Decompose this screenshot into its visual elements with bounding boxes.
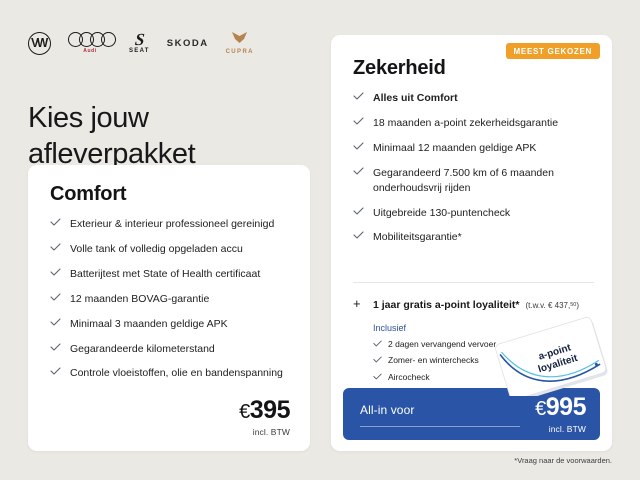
comfort-price-note: incl. BTW: [239, 427, 290, 437]
audi-ring-4: [101, 32, 116, 47]
check-icon: [50, 218, 63, 226]
list-item-label: Volle tank of volledig opgeladen accu: [70, 242, 294, 257]
status-badge: MEEST GEKOZEN: [506, 43, 600, 59]
list-item: Zomer- en winterchecks: [373, 355, 533, 366]
list-item-label: Zomer- en winterchecks: [388, 355, 479, 366]
check-icon: [50, 268, 63, 276]
list-item-label: Exterieur & interieur professioneel gere…: [70, 217, 294, 232]
audi-rings-icon: [68, 32, 112, 46]
check-icon: [373, 355, 383, 366]
volkswagen-vw-glyph: VW: [31, 37, 46, 50]
list-item-label: Gegarandeerd 7.500 km of 6 maanden onder…: [373, 166, 596, 196]
list-item: Alles uit Comfort: [353, 91, 596, 106]
zekerheid-price: €995: [535, 395, 586, 420]
allin-rule: [360, 426, 520, 427]
list-item: 18 maanden a-point zekerheidsgarantie: [353, 116, 596, 131]
zekerheid-title: Zekerheid: [353, 57, 446, 80]
list-item-label: Aircocheck: [388, 372, 430, 383]
seat-s-icon: S: [134, 32, 145, 47]
list-item: 12 maanden BOVAG-garantie: [50, 292, 294, 307]
allin-label: All-in voor: [360, 403, 414, 417]
seat-wordmark: SEAT: [129, 48, 150, 54]
check-icon: [50, 243, 63, 251]
allin-price-bar: All-in voor €995 incl. BTW: [343, 388, 600, 440]
list-item: Uitgebreide 130-puntencheck: [353, 206, 596, 221]
inclusief-heading: Inclusief: [373, 323, 533, 333]
bonus-note-prefix: (t.w.v. € 437,: [525, 301, 570, 310]
list-item-label: Controle vloeistoffen, olie en bandenspa…: [70, 366, 294, 381]
list-item-label: Minimaal 3 maanden geldige APK: [70, 317, 294, 332]
list-item: Volle tank of volledig opgeladen accu: [50, 242, 294, 257]
package-card-comfort[interactable]: Comfort Exterieur & interieur profession…: [28, 165, 310, 451]
footnote-text: *Vraag naar de voorwaarden.: [514, 456, 612, 465]
package-card-zekerheid[interactable]: MEEST GEKOZEN Zekerheid Alles uit Comfor…: [331, 35, 612, 451]
list-item: Batterijtest met State of Health certifi…: [50, 267, 294, 282]
list-item: Gegarandeerde kilometerstand: [50, 342, 294, 357]
plus-icon: +: [353, 297, 366, 310]
list-item: Controle vloeistoffen, olie en bandenspa…: [50, 366, 294, 381]
list-item: Mobiliteitsgarantie*: [353, 230, 596, 245]
cupra-wordmark: CUPRA: [226, 49, 254, 55]
skoda-logo: SKODA: [167, 38, 209, 49]
bonus-loyalty-row: + 1 jaar gratis a-point loyaliteit* (t.w…: [353, 297, 600, 311]
audi-wordmark: Audi: [83, 48, 97, 54]
euro-symbol: €: [239, 401, 250, 423]
check-icon: [353, 207, 366, 215]
check-icon: [353, 117, 366, 125]
bonus-note-suffix: ): [576, 301, 579, 310]
comfort-price-amount: 395: [250, 396, 290, 424]
list-item-label: Minimaal 12 maanden geldige APK: [373, 141, 596, 156]
cupra-tribal-icon: [231, 31, 248, 47]
zekerheid-price-note: incl. BTW: [535, 424, 586, 434]
list-item-label: 2 dagen vervangend vervoer: [388, 339, 496, 350]
list-item-label: Batterijtest met State of Health certifi…: [70, 267, 294, 282]
section-divider: [353, 282, 594, 283]
euro-symbol: €: [535, 398, 546, 420]
comfort-title: Comfort: [50, 183, 126, 206]
list-item: Gegarandeerd 7.500 km of 6 maanden onder…: [353, 166, 596, 196]
list-item-label: Alles uit Comfort: [373, 91, 596, 106]
cupra-logo: CUPRA: [226, 31, 254, 55]
list-item: Aircocheck: [373, 372, 533, 383]
list-item-label: Gegarandeerde kilometerstand: [70, 342, 294, 357]
comfort-price: €395: [239, 398, 290, 423]
volkswagen-logo: VW: [28, 32, 51, 55]
zekerheid-price-amount: 995: [546, 393, 586, 421]
bonus-value-note: (t.w.v. € 437,50): [525, 301, 579, 310]
check-icon: [353, 231, 366, 239]
check-icon: [353, 142, 366, 150]
skoda-wordmark: SKODA: [167, 38, 209, 49]
page-title: Kies jouw afleverpakket: [28, 101, 195, 172]
check-icon: [373, 372, 383, 383]
list-item: Exterieur & interieur professioneel gere…: [50, 217, 294, 232]
check-icon: [353, 92, 366, 100]
audi-logo: Audi: [68, 32, 112, 54]
comfort-price-block: €395 incl. BTW: [239, 398, 290, 437]
seat-logo: S SEAT: [129, 32, 150, 54]
list-item-label: 12 maanden BOVAG-garantie: [70, 292, 294, 307]
check-icon: [353, 167, 366, 175]
list-item-label: Uitgebreide 130-puntencheck: [373, 206, 596, 221]
check-icon: [50, 318, 63, 326]
zekerheid-price-block: €995 incl. BTW: [535, 395, 586, 434]
comfort-feature-list: Exterieur & interieur professioneel gere…: [50, 217, 294, 391]
check-icon: [373, 339, 383, 350]
list-item: Minimaal 12 maanden geldige APK: [353, 141, 596, 156]
volkswagen-roundel-icon: VW: [28, 32, 51, 55]
bonus-label: 1 jaar gratis a-point loyaliteit*: [373, 299, 519, 311]
list-item-label: 18 maanden a-point zekerheidsgarantie: [373, 116, 596, 131]
check-icon: [50, 293, 63, 301]
list-item: 2 dagen vervangend vervoer: [373, 339, 533, 350]
zekerheid-feature-list: Alles uit Comfort 18 maanden a-point zek…: [353, 91, 596, 255]
list-item: Minimaal 3 maanden geldige APK: [50, 317, 294, 332]
check-icon: [50, 343, 63, 351]
list-item-label: Mobiliteitsgarantie*: [373, 230, 596, 245]
brand-logo-strip: VW Audi S SEAT SKODA CUPRA: [28, 30, 254, 56]
check-icon: [50, 367, 63, 375]
